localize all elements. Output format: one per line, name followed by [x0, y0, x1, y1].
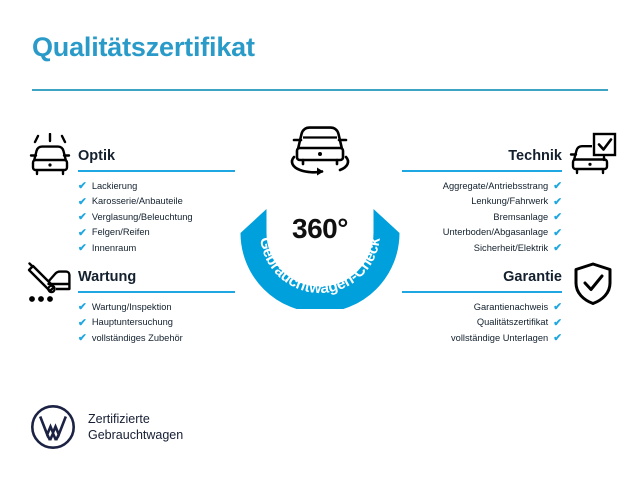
list-item-label: Wartung/Inspektion [92, 300, 172, 315]
check-icon: ✔ [553, 318, 562, 329]
section-optik-list: ✔ Lackierung ✔ Karosserie/Anbauteile ✔ V… [78, 179, 235, 256]
list-item: ✔ Sicherheit/Elektrik [402, 241, 562, 256]
check-icon: ✔ [78, 243, 87, 254]
page-title: Qualitätszertifikat [32, 32, 255, 63]
list-item-label: vollständiges Zubehör [92, 331, 183, 346]
list-item-label: Bremsanlage [493, 210, 548, 225]
section-wartung-divider [78, 291, 235, 293]
check-icon: ✔ [553, 228, 562, 239]
check-icon: ✔ [78, 333, 87, 344]
volkswagen-logo [30, 404, 76, 450]
section-technik-list: ✔ Aggregate/Antriebsstrang ✔ Lenkung/Fah… [402, 179, 562, 256]
list-item: ✔ Lackierung [78, 179, 235, 194]
section-garantie: Garantie ✔ Garantienachweis ✔ Qualitätsz… [402, 267, 562, 346]
list-item-label: Verglasung/Beleuchtung [92, 210, 193, 225]
check-icon: ✔ [78, 181, 87, 192]
section-technik: Technik ✔ Aggregate/Antriebsstrang ✔ Len… [402, 146, 562, 256]
check-icon: ✔ [78, 197, 87, 208]
list-item-label: Garantienachweis [474, 300, 548, 315]
section-optik-header: Optik [78, 146, 235, 172]
car-checkbox-icon [568, 132, 618, 183]
section-wartung: Wartung ✔ Wartung/Inspektion ✔ Hauptunte… [78, 267, 235, 346]
list-item: ✔ Hauptuntersuchung [78, 315, 235, 330]
list-item-label: Aggregate/Antriebsstrang [443, 179, 548, 194]
section-garantie-list: ✔ Garantienachweis ✔ Qualitätszertifikat… [402, 300, 562, 346]
footer-line-1: Zertifizierte [88, 411, 183, 427]
section-garantie-title: Garantie [402, 267, 562, 287]
list-item: ✔ vollständige Unterlagen [402, 331, 562, 346]
check-icon: ✔ [553, 212, 562, 223]
check-icon: ✔ [553, 243, 562, 254]
section-optik: Optik ✔ Lackierung ✔ Karosserie/Anbautei… [78, 146, 235, 256]
check-icon: ✔ [78, 302, 87, 313]
footer-line-2: Gebrauchtwagen [88, 427, 183, 443]
list-item: ✔ Lenkung/Fahrwerk [402, 194, 562, 209]
check-icon: ✔ [78, 228, 87, 239]
badge-center-label: 360° [233, 213, 407, 245]
list-item-label: Qualitätszertifikat [477, 315, 548, 330]
check-icon: ✔ [553, 197, 562, 208]
list-item-label: Karosserie/Anbauteile [92, 194, 183, 209]
section-wartung-list: ✔ Wartung/Inspektion ✔ Hauptuntersuchung… [78, 300, 235, 346]
list-item: ✔ vollständiges Zubehör [78, 331, 235, 346]
section-optik-divider [78, 170, 235, 172]
list-item-label: Innenraum [92, 241, 136, 256]
section-wartung-header: Wartung [78, 267, 235, 293]
section-technik-divider [402, 170, 562, 172]
check-icon: ✔ [78, 318, 87, 329]
title-divider [32, 89, 608, 91]
list-item: ✔ Aggregate/Antriebsstrang [402, 179, 562, 194]
list-item: ✔ Innenraum [78, 241, 235, 256]
list-item: ✔ Wartung/Inspektion [78, 300, 235, 315]
360-check-badge: Gebrauchtwagen-Check 360° [233, 113, 407, 309]
check-icon: ✔ [553, 181, 562, 192]
list-item-label: Hauptuntersuchung [92, 315, 173, 330]
list-item: ✔ Felgen/Reifen [78, 225, 235, 240]
footer-brand-lockup: Zertifizierte Gebrauchtwagen [30, 404, 183, 450]
check-icon: ✔ [553, 333, 562, 344]
list-item-label: Sicherheit/Elektrik [474, 241, 548, 256]
section-garantie-header: Garantie [402, 267, 562, 293]
list-item-label: Lenkung/Fahrwerk [471, 194, 548, 209]
section-technik-title: Technik [402, 146, 562, 166]
sparkling-car-icon [24, 133, 76, 184]
shield-check-icon [572, 262, 614, 311]
list-item-label: Lackierung [92, 179, 137, 194]
section-technik-header: Technik [402, 146, 562, 172]
list-item: ✔ Verglasung/Beleuchtung [78, 210, 235, 225]
quality-certificate-page: Qualitätszertifikat Optik ✔ L [0, 0, 640, 480]
list-item: ✔ Garantienachweis [402, 300, 562, 315]
section-optik-title: Optik [78, 146, 235, 166]
check-icon: ✔ [78, 212, 87, 223]
check-icon: ✔ [553, 302, 562, 313]
list-item-label: Unterboden/Abgasanlage [443, 225, 548, 240]
list-item-label: Felgen/Reifen [92, 225, 150, 240]
wrench-car-service-icon [24, 262, 76, 311]
section-garantie-divider [402, 291, 562, 293]
list-item: ✔ Karosserie/Anbauteile [78, 194, 235, 209]
footer-brand-text: Zertifizierte Gebrauchtwagen [88, 411, 183, 443]
section-wartung-title: Wartung [78, 267, 235, 287]
list-item-label: vollständige Unterlagen [451, 331, 548, 346]
list-item: ✔ Unterboden/Abgasanlage [402, 225, 562, 240]
list-item: ✔ Bremsanlage [402, 210, 562, 225]
list-item: ✔ Qualitätszertifikat [402, 315, 562, 330]
